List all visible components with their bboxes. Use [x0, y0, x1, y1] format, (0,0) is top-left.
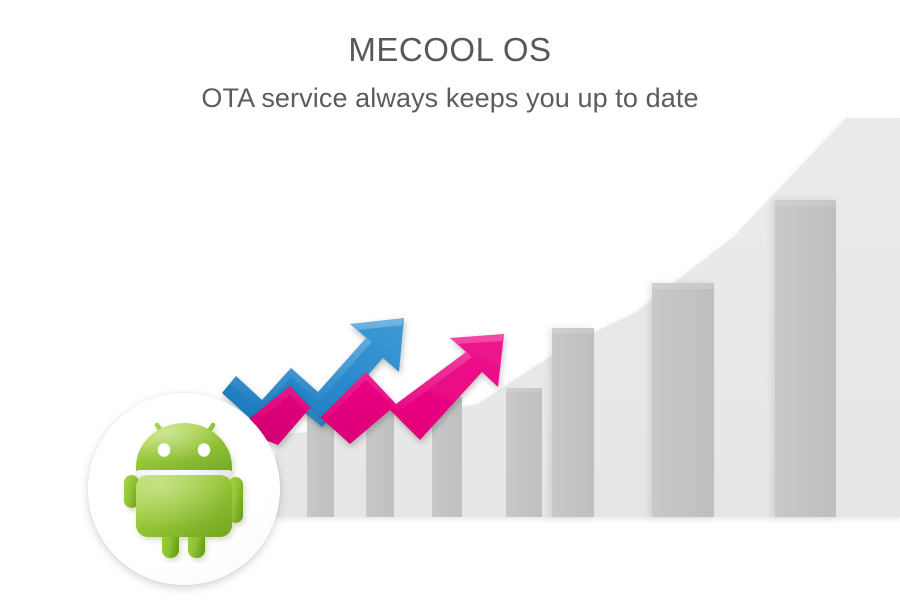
- poster-canvas: MECOOL OS OTA service always keeps you u…: [0, 0, 900, 603]
- android-eye-left: [158, 443, 170, 457]
- android-eye-right: [198, 443, 210, 457]
- android-robot-icon: [118, 415, 250, 563]
- android-badge: [88, 393, 280, 585]
